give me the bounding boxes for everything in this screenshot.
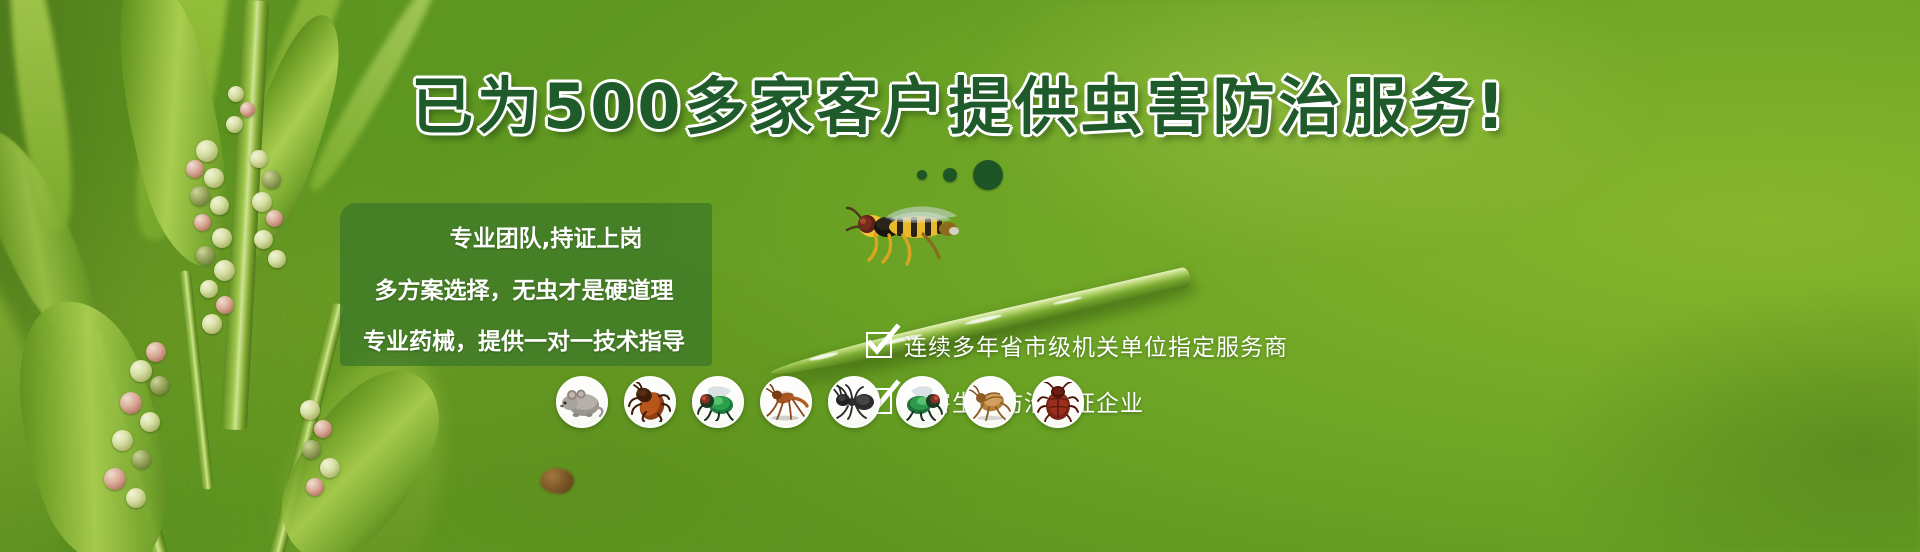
headline-decorative-dots <box>917 160 1003 190</box>
list-item: 连续多年省市级机关单位指定服务商 <box>866 328 1288 362</box>
pest-type-icons: 鼠 蟑螂 <box>556 376 1084 428</box>
ant-icon[interactable]: 蚂蚁 <box>828 376 880 428</box>
housefly-icon[interactable]: 苍蝇 <box>896 376 948 428</box>
mosquito-icon[interactable]: 蚊 <box>760 376 812 428</box>
hoverfly-on-leaf-photo <box>845 200 965 266</box>
green-fly-icon[interactable]: 绿蝇 <box>692 376 744 428</box>
selling-point-line-2: 多方案选择，无虫才是硬道理 <box>358 271 690 305</box>
mouse-icon[interactable]: 鼠 <box>556 376 608 428</box>
decorative-dot-large <box>973 160 1003 190</box>
cockroach-icon[interactable]: 蟑螂 <box>624 376 676 428</box>
checkbox-checked-icon <box>866 332 892 358</box>
page-title: 已为500多家客户提供虫害防治服务! <box>0 76 1920 138</box>
headline-text: 已为500多家客户提供虫害防治服务! <box>411 70 1509 143</box>
seed-pod <box>540 468 574 494</box>
bedbug-icon[interactable]: 臭虫 <box>1032 376 1084 428</box>
selling-point-line-1: 专业团队,持证上岗 <box>358 219 690 253</box>
selling-point-line-3: 专业药械，提供一对一技术指导 <box>358 322 690 356</box>
credential-label: 连续多年省市级机关单位指定服务商 <box>904 328 1288 362</box>
pest-control-hero-banner: 已为500多家客户提供虫害防治服务! 专业团队,持证上岗 多方案选择，无虫才是硬… <box>0 0 1920 552</box>
flea-icon[interactable]: 跳蚤 <box>964 376 1016 428</box>
decorative-dot-medium <box>943 168 957 182</box>
decorative-dot-small <box>917 170 927 180</box>
selling-points-panel: 专业团队,持证上岗 多方案选择，无虫才是硬道理 专业药械，提供一对一技术指导 <box>340 203 712 366</box>
